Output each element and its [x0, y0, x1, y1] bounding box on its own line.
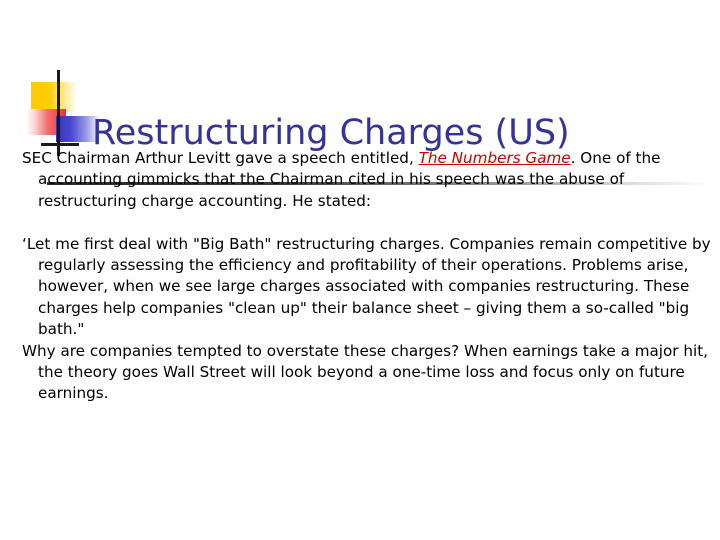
- slide-canvas: Restructuring Charges (US) SEC Chairman …: [0, 0, 720, 540]
- paragraph-quote: ‘Let me first deal with "Big Bath" restr…: [22, 234, 712, 341]
- yellow-square-icon: [31, 82, 77, 112]
- decorative-logo: [31, 82, 93, 144]
- paragraph-intro: SEC Chairman Arthur Levitt gave a speech…: [22, 148, 712, 212]
- paragraph-spacer: [22, 212, 712, 233]
- slide-title-area: Restructuring Charges (US): [0, 52, 720, 144]
- paragraph-intro-text-before: SEC Chairman Arthur Levitt gave a speech…: [22, 149, 419, 167]
- horizontal-rule-icon: [41, 143, 79, 146]
- speech-title-link[interactable]: The Numbers Game: [419, 149, 571, 167]
- paragraph-rationale: Why are companies tempted to overstate t…: [22, 341, 712, 405]
- slide-body: SEC Chairman Arthur Levitt gave a speech…: [22, 148, 712, 405]
